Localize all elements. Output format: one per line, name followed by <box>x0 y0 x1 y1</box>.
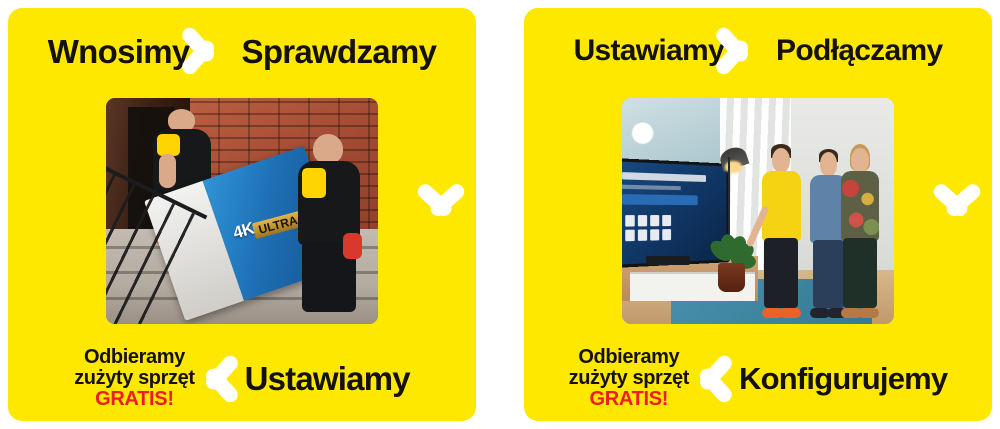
courier-lower <box>294 134 365 310</box>
chevron-right-icon <box>196 20 236 82</box>
card-2-step-2-label: Podłączamy <box>776 36 942 66</box>
card-1-step-3-label: Ustawiamy <box>245 362 410 395</box>
customer-woman <box>837 148 883 315</box>
chevron-left-icon <box>695 348 735 410</box>
card-2-recycling-note: Odbieramy zużyty sprzęt GRATIS! <box>569 347 691 411</box>
card-2-step-3-label: Konfigurujemy <box>739 363 947 394</box>
recycling-free-badge: GRATIS! <box>74 389 194 410</box>
recycling-line-2: zużyty sprzęt <box>74 368 194 389</box>
recycling-line-1: Odbieramy <box>74 347 194 368</box>
installer-technician <box>758 148 804 315</box>
chevron-right-icon <box>730 20 770 82</box>
chevron-left-icon <box>201 348 241 410</box>
card-1-top-row: Wnosimy Sprawdzamy <box>8 8 476 94</box>
card-2-step-1-label: Ustawiamy <box>574 36 724 66</box>
card-1-photo-couriers-carrying-tv: 4K ULTRA HD <box>106 98 378 324</box>
card-1-recycling-note: Odbieramy zużyty sprzęt GRATIS! <box>74 347 196 411</box>
service-card-delivery[interactable]: Wnosimy Sprawdzamy <box>8 8 476 421</box>
card-1-step-2-label: Sprawdzamy <box>242 35 437 68</box>
recycling-line-2: zużyty sprzęt <box>569 368 689 389</box>
recycling-line-1: Odbieramy <box>569 347 689 368</box>
card-1-step-1-label: Wnosimy <box>48 35 190 68</box>
service-card-installation[interactable]: Ustawiamy Podłączamy <box>524 8 992 421</box>
card-1-photo-area: 4K ULTRA HD <box>8 94 476 328</box>
card-1-bottom-row: Odbieramy zużyty sprzęt GRATIS! Ustawiam… <box>8 328 476 421</box>
service-steps-board: Wnosimy Sprawdzamy <box>0 0 1000 429</box>
card-2-bottom-row: Odbieramy zużyty sprzęt GRATIS! Konfigur… <box>524 328 992 421</box>
card-2-photo-installer-with-customers <box>622 98 894 324</box>
card-2-photo-area <box>524 94 992 328</box>
card-2-top-row: Ustawiamy Podłączamy <box>524 8 992 94</box>
recycling-free-badge: GRATIS! <box>569 389 689 410</box>
